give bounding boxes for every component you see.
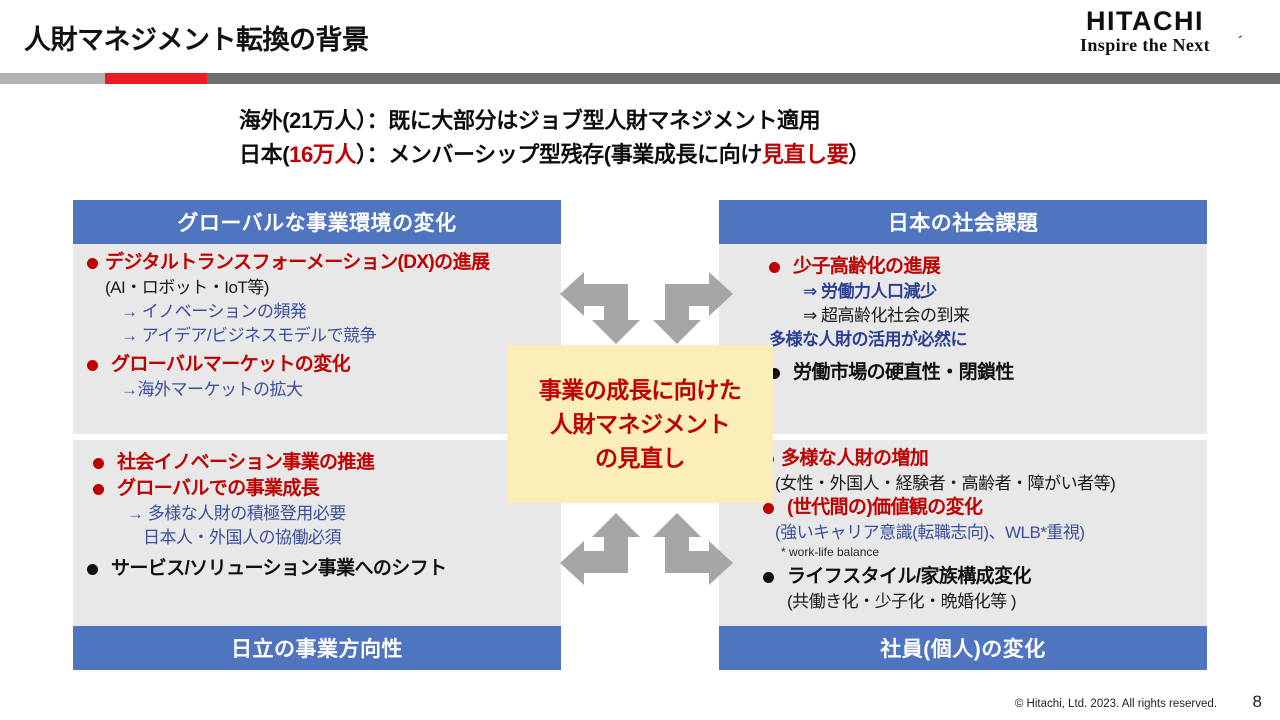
list-item-label: 少子高齢化の進展 <box>793 254 940 280</box>
list-item: (共働き化・少子化・晩婚化等 ) <box>787 590 1197 613</box>
list-item-label: サービス/ソリューション事業へのシフト <box>111 556 447 582</box>
arrow-top-right-icon <box>641 272 733 350</box>
quadrant-top-right-body: 少子高齢化の進展 ⇒ 労働力人口減少 ⇒ 超高齢化社会の到来 多様な人財の活用が… <box>719 244 1207 386</box>
list-item-label: デジタルトランスフォーメーション(DX)の進展 <box>105 250 489 276</box>
list-item: ⇒ 労働力人口減少 <box>803 280 1197 304</box>
subtitle-japan-prefix: 日本( <box>239 142 289 167</box>
list-item: デジタルトランスフォーメーション(DX)の進展 <box>87 250 551 276</box>
center-callout-line-1: 事業の成長に向けた <box>539 373 742 407</box>
list-item: (AI・ロボット・IoT等) <box>105 276 551 300</box>
subtitle-japan-headcount: 16万人 <box>289 142 356 167</box>
list-item: 少子高齢化の進展 <box>769 254 1197 280</box>
list-item: 多様な人財の活用が必然に <box>769 328 1197 352</box>
list-item-label: 労働市場の硬直性・閉鎖性 <box>793 360 1014 386</box>
copyright-notice: © Hitachi, Ltd. 2023. All rights reserve… <box>1015 698 1217 710</box>
list-item: → イノベーションの頻発 <box>121 300 551 324</box>
quadrant-bottom-right: 多様な人財の増加 (女性・外国人・経験者・高齢者・障がい者等) (世代間の)価値… <box>719 440 1207 670</box>
arrow-bottom-left-icon <box>560 513 652 591</box>
arrow-top-left-icon <box>560 272 652 350</box>
list-item: サービス/ソリューション事業へのシフト <box>87 556 551 582</box>
list-item: (世代間の)価値観の変化 <box>763 495 1197 521</box>
logo-tagline: Inspire the Next ´ <box>1030 36 1260 56</box>
list-item: 日本人・外国人の協働必須 <box>143 526 551 550</box>
list-item: グローバルでの事業成長 <box>93 476 551 502</box>
bullet-list: 多様な人財の増加 (女性・外国人・経験者・高齢者・障がい者等) (世代間の)価値… <box>719 440 1207 613</box>
list-item: (強いキャリア意識(転職志向)、WLB*重視) <box>775 521 1197 544</box>
list-item: ライフスタイル/家族構成変化 <box>763 564 1197 590</box>
page-number: 8 <box>1253 692 1262 712</box>
arrow-bottom-right-icon <box>641 513 733 591</box>
quadrant-top-left-body: デジタルトランスフォーメーション(DX)の進展 (AI・ロボット・IoT等) →… <box>73 244 561 402</box>
list-item: (女性・外国人・経験者・高齢者・障がい者等) <box>775 472 1197 495</box>
center-callout-line-3: の見直し <box>595 441 685 475</box>
list-item-label: ライフスタイル/家族構成変化 <box>787 564 1031 590</box>
footnote-work-life-balance: * work-life balance <box>781 544 1197 560</box>
quadrant-top-right-band: 日本の社会課題 <box>719 200 1207 244</box>
subtitle-line-overseas: 海外(21万人）：既に大部分はジョブ型人財マネジメント適用 <box>239 104 870 138</box>
list-item: グローバルマーケットの変化 <box>87 352 551 378</box>
logo-wordmark: HITACHI <box>1030 8 1260 35</box>
bullet-dot-icon <box>763 572 774 583</box>
quadrant-top-left-band: グローバルな事業環境の変化 <box>73 200 561 244</box>
bullet-list: 社会イノベーション事業の推進 グローバルでの事業成長 → 多様な人財の積極登用必… <box>73 440 561 582</box>
list-item-label: グローバルマーケットの変化 <box>111 352 350 378</box>
bullet-list: デジタルトランスフォーメーション(DX)の進展 (AI・ロボット・IoT等) →… <box>73 244 561 402</box>
list-item: 社会イノベーション事業の推進 <box>93 450 551 476</box>
bullet-dot-icon <box>93 458 104 469</box>
quadrant-top-left: グローバルな事業環境の変化 デジタルトランスフォーメーション(DX)の進展 (A… <box>73 200 561 434</box>
bullet-dot-icon <box>763 503 774 514</box>
quadrant-top-right: 日本の社会課題 少子高齢化の進展 ⇒ 労働力人口減少 ⇒ 超高齢化社会の到来 多… <box>719 200 1207 434</box>
list-item: 労働市場の硬直性・閉鎖性 <box>769 360 1197 386</box>
subtitle-japan-middle: ）：メンバーシップ型残存(事業成長に向け <box>356 142 762 167</box>
subtitle-japan-suffix: ） <box>848 142 870 167</box>
header-rule <box>0 73 1280 84</box>
list-item: → アイデア/ビジネスモデルで競争 <box>121 324 551 348</box>
quadrant-bottom-right-body: 多様な人財の増加 (女性・外国人・経験者・高齢者・障がい者等) (世代間の)価値… <box>719 440 1207 613</box>
bullet-dot-icon <box>769 262 780 273</box>
list-item: →海外マーケットの拡大 <box>121 378 551 402</box>
list-item: ⇒ 超高齢化社会の到来 <box>803 304 1197 328</box>
list-item-label: 多様な人財の増加 <box>781 446 928 472</box>
bullet-list: 少子高齢化の進展 ⇒ 労働力人口減少 ⇒ 超高齢化社会の到来 多様な人財の活用が… <box>719 244 1207 386</box>
quadrant-bottom-left: 社会イノベーション事業の推進 グローバルでの事業成長 → 多様な人財の積極登用必… <box>73 440 561 670</box>
list-item-label: (世代間の)価値観の変化 <box>787 495 982 521</box>
header-rule-segment-gray-light <box>0 73 105 84</box>
subtitle-japan-review-required: 見直し要 <box>762 142 848 167</box>
logo-accent-mark: ´ <box>1238 34 1243 49</box>
hitachi-logo: HITACHI Inspire the Next ´ <box>1030 8 1260 56</box>
list-item-label: 社会イノベーション事業の推進 <box>117 450 374 476</box>
quadrant-bottom-left-body: 社会イノベーション事業の推進 グローバルでの事業成長 → 多様な人財の積極登用必… <box>73 440 561 582</box>
bullet-dot-icon <box>87 360 98 371</box>
bullet-dot-icon <box>93 484 104 495</box>
subtitle-line-japan: 日本(16万人）：メンバーシップ型残存(事業成長に向け見直し要） <box>239 138 870 172</box>
list-item: 多様な人財の増加 <box>763 446 1197 472</box>
logo-tagline-text: Inspire the Next <box>1080 35 1210 55</box>
subtitle-block: 海外(21万人）：既に大部分はジョブ型人財マネジメント適用 日本(16万人）：メ… <box>239 104 870 172</box>
quadrant-bottom-left-band: 日立の事業方向性 <box>73 626 561 670</box>
list-item-label: グローバルでの事業成長 <box>117 476 319 502</box>
page-title: 人財マネジメント転換の背景 <box>24 18 369 57</box>
bullet-dot-icon <box>87 564 98 575</box>
header-rule-segment-red <box>105 73 207 84</box>
header-rule-segment-gray-dark <box>207 73 1280 84</box>
bullet-dot-icon <box>87 258 98 269</box>
list-item: → 多様な人財の積極登用必要 <box>127 502 551 526</box>
center-callout-box: 事業の成長に向けた 人財マネジメント の見直し <box>507 345 773 503</box>
center-callout-line-2: 人財マネジメント <box>550 407 730 441</box>
quadrant-bottom-right-band: 社員(個人)の変化 <box>719 626 1207 670</box>
